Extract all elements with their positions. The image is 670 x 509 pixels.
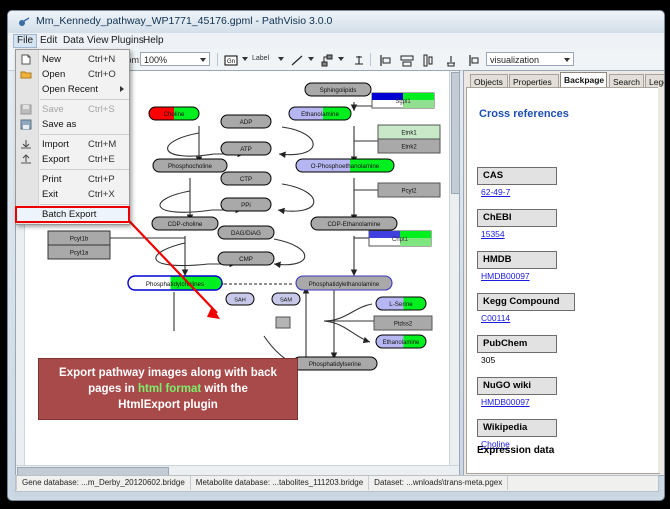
menu-divider-1 [40,99,129,100]
menu-item-export[interactable]: Export Ctrl+E [16,152,129,167]
menu-divider-2 [40,134,129,135]
node-phosphocholine: Phosphocholine [153,159,227,172]
xref-value-chebi[interactable]: 15354 [481,229,505,239]
node-sam: SAM [272,293,300,305]
node-pcyt2: Pcyt2 [378,183,440,197]
xref-label-wikipedia: Wikipedia [483,422,527,433]
svg-text:CDP-Ethanolamine: CDP-Ethanolamine [328,221,382,228]
menu-divider-4 [40,204,129,205]
annotation-line3: HtmlExport plugin [118,399,218,411]
menu-help[interactable]: Help [139,34,168,48]
svg-text:Phosphatidylcholines: Phosphatidylcholines [146,281,204,288]
align-middle-icon[interactable] [420,52,438,69]
interaction-dropdown-icon[interactable] [338,57,344,61]
menu-divider-3 [40,169,129,170]
svg-text:Chpt1: Chpt1 [392,237,409,243]
svg-text:L-Serine: L-Serine [389,301,413,308]
menu-edit[interactable]: Edit [36,34,61,48]
group-icon[interactable] [464,52,482,69]
node-cmp: CMP [218,252,274,265]
node-o-phosphoethanolamine: O-Phosphoethanolamine [296,159,394,172]
svg-text:Phosphocholine: Phosphocholine [168,163,213,170]
xref-section-kegg: Kegg Compound [477,293,575,311]
xref-label-pubchem: PubChem [483,338,527,349]
menu-item-batch-export-label: Batch Export [42,209,96,220]
svg-text:Ethanolamine: Ethanolamine [301,111,339,118]
menu-item-open-recent[interactable]: Open Recent [16,82,129,97]
node-pcyt1b: Pcyt1b [48,231,110,245]
svg-text:Ethanolamine: Ethanolamine [383,340,420,346]
xref-value-pubchem: 305 [481,355,495,365]
menu-item-save-accel: Ctrl+S [88,104,115,115]
submenu-arrow-icon [120,86,124,92]
tab-legend[interactable]: Legend [645,74,665,87]
tab-properties[interactable]: Properties [509,74,559,87]
status-bar: Gene database: ...m_Derby_20120602.bridg… [15,475,659,492]
svg-text:Pcyt1b: Pcyt1b [70,237,89,243]
menu-item-new[interactable]: New Ctrl+N [16,52,129,67]
xref-label-kegg: Kegg Compound [483,296,560,307]
side-panel: Objects Properties Backpage Search Legen… [463,70,665,476]
window-title: Mm_Kennedy_pathway_WP1771_45176.gpml - P… [36,15,332,27]
svg-text:Sphingolipids: Sphingolipids [320,87,357,94]
menu-item-open-recent-label: Open Recent [42,84,98,95]
import-icon [20,139,32,150]
svg-text:Phosphatidylethanolamine: Phosphatidylethanolamine [309,282,380,288]
title-bar: Mm_Kennedy_pathway_WP1771_45176.gpml - P… [8,11,664,33]
xref-section-wikipedia: Wikipedia [477,419,557,437]
node-adp: ADP [221,115,271,128]
menu-file[interactable]: File [13,34,37,48]
zoom-combobox[interactable]: 100% [140,52,210,66]
menu-item-export-accel: Ctrl+E [88,154,115,165]
tab-backpage[interactable]: Backpage [560,72,607,87]
xref-value-cas[interactable]: 62-49-7 [481,187,510,197]
status-dataset: Dataset: ...wnloads\trans-meta.pgex [369,476,508,490]
menu-item-exit-accel: Ctrl+X [88,189,115,200]
svg-text:ATP: ATP [240,146,252,153]
menu-item-export-label: Export [42,154,69,165]
menu-item-save: Save Ctrl+S [16,102,129,117]
node-ctp: CTP [221,172,271,185]
label-dropdown-icon[interactable] [278,57,284,61]
datanode-icon[interactable]: Gn [222,52,240,69]
svg-text:CTP: CTP [240,176,252,183]
side-panel-scrollbar[interactable] [658,87,665,473]
menu-item-new-label: New [42,54,61,65]
node-phosphatidylserine: Phosphatidylserine [293,357,377,370]
line-icon[interactable] [288,52,306,69]
menu-item-new-accel: Ctrl+N [88,54,115,65]
node-chpt1: Chpt1 [369,231,431,246]
svg-text:Sgpl1: Sgpl1 [395,99,411,105]
svg-text:Pcyt1a: Pcyt1a [70,251,89,257]
node-l-serine: L-Serine [376,297,426,310]
side-panel-tabs: Objects Properties Backpage Search Legen… [464,71,665,87]
menu-item-save-label: Save [42,104,64,115]
menu-item-import-label: Import [42,139,69,150]
annotation-highlight: html format [138,383,201,395]
svg-text:O-Phosphoethanolamine: O-Phosphoethanolamine [311,163,380,170]
node-ethanolamine-2: Ethanolamine [376,335,426,348]
node-sphingolipids: Sphingolipids [305,83,371,96]
svg-text:DAG/DiAG: DAG/DiAG [231,230,261,237]
interaction-icon[interactable] [318,52,336,69]
annotation-callout: Export pathway images along with back pa… [38,358,298,420]
toolbar-separator-2 [370,53,371,66]
pathvisio-icon [18,16,30,28]
status-metabolite-database: Metabolite database: ...tabolites_111203… [191,476,369,490]
svg-text:Phosphatidylserine: Phosphatidylserine [309,361,362,368]
new-file-icon [20,54,32,65]
menu-item-import-accel: Ctrl+M [88,139,116,150]
folder-icon [20,69,32,80]
screen: Mm_Kennedy_pathway_WP1771_45176.gpml - P… [0,0,670,509]
menu-item-print-accel: Ctrl+P [88,174,115,185]
node-etnk2: Etnk2 [378,139,440,153]
menu-item-exit[interactable]: Exit Ctrl+X [16,187,129,202]
svg-text:ADP: ADP [240,119,253,126]
save-icon [20,104,32,115]
xref-label-cas: CAS [483,170,503,181]
tab-objects[interactable]: Objects [470,74,508,87]
file-menu-popup[interactable]: New Ctrl+N Open Ctrl+O Open Recent Save … [15,49,130,225]
xref-section-pubchem: PubChem [477,335,557,353]
stack-icon[interactable] [442,52,460,69]
menu-item-open-accel: Ctrl+O [88,69,116,80]
canvas-vertical-thumb[interactable] [451,72,460,194]
menu-item-print[interactable]: Print Ctrl+P [16,172,129,187]
canvas-vertical-scrollbar[interactable] [449,71,459,475]
toolbar-separator-1 [217,53,218,66]
align-left-icon[interactable] [376,52,394,69]
xref-label-nugo: NuGO wiki [483,380,531,391]
xref-label-chebi: ChEBI [483,212,512,223]
menu-item-save-as[interactable]: Save as [16,117,129,132]
backpage-content: Cross references CAS 62-49-7 ChEBI 15354… [466,87,660,474]
xref-label-hmdb: HMDB [483,254,512,265]
annotation-line2-a: pages in [88,383,138,395]
node-sgpl1: Sgpl1 [372,93,434,108]
xref-section-chebi: ChEBI [477,209,557,227]
xref-section-nugo: NuGO wiki [477,377,557,395]
xref-section-hmdb: HMDB [477,251,557,269]
menu-item-save-as-label: Save as [42,119,76,130]
menu-item-open-label: Open [42,69,65,80]
node-sah: SAH [226,293,254,305]
xref-value-nugo[interactable]: HMDB00097 [481,397,530,407]
svg-text:Pcyt2: Pcyt2 [401,189,417,195]
datanode-dropdown-icon[interactable] [242,57,248,61]
label-tool-label[interactable]: Label [252,55,269,62]
svg-text:PPi: PPi [241,202,251,209]
anchor-icon[interactable] [350,52,368,69]
menu-item-batch-export[interactable]: Batch Export [16,207,129,222]
xref-section-cas: CAS [477,167,557,185]
expression-data-heading: Expression data [477,445,554,456]
svg-text:SAH: SAH [234,298,246,304]
node-choline-top: Choline [149,107,199,120]
annotation-text: Export pathway images along with back pa… [53,365,283,413]
canvas-horizontal-scrollbar[interactable] [16,465,459,475]
node-ptdss2: Ptdss2 [374,316,432,330]
export-icon [20,154,32,165]
visualization-combobox[interactable]: visualization [486,52,574,66]
line-dropdown-icon[interactable] [308,57,314,61]
svg-text:Choline: Choline [164,111,186,118]
tab-search[interactable]: Search [609,74,644,87]
node-atp: ATP [221,142,271,155]
status-gene-database: Gene database: ...m_Derby_20120602.bridg… [16,476,191,490]
annotation-line2-b: with the [201,383,248,395]
xref-value-hmdb[interactable]: HMDB00097 [481,271,530,281]
menu-item-import[interactable]: Import Ctrl+M [16,137,129,152]
node-cdp-choline: CDP-choline [152,217,218,230]
node-phosphatidylethanolamine: Phosphatidylethanolamine [296,276,392,290]
svg-text:Ptdss2: Ptdss2 [394,322,413,328]
node-cdp-ethanolamine: CDP-Ethanolamine [311,217,397,230]
svg-text:SAM: SAM [280,298,292,304]
svg-text:CMP: CMP [239,256,253,263]
application-window: Mm_Kennedy_pathway_WP1771_45176.gpml - P… [7,10,665,501]
node-phosphatidylcholines: Phosphatidylcholines [128,276,222,290]
menu-item-open[interactable]: Open Ctrl+O [16,67,129,82]
node-ppi: PPi [221,198,271,211]
node-ethanolamine: Ethanolamine [289,107,351,120]
node-etnk1: Etnk1 [378,125,440,139]
node-dag-diag: DAG/DiAG [218,226,274,239]
menu-item-exit-label: Exit [42,189,58,200]
svg-text:Etnk1: Etnk1 [401,131,417,137]
annotation-line1: Export pathway images along with back [59,367,277,379]
node-pcyt1a: Pcyt1a [48,245,110,259]
menu-bar: File Edit Data View Plugins Help [8,33,664,50]
svg-text:Etnk2: Etnk2 [401,145,417,151]
align-center-icon[interactable] [398,52,416,69]
svg-text:Gn: Gn [227,59,235,65]
xref-value-kegg[interactable]: C00114 [481,313,510,323]
svg-text:CDP-choline: CDP-choline [168,221,203,228]
menu-item-print-label: Print [42,174,62,185]
cross-references-heading: Cross references [479,108,569,120]
save-as-icon [20,119,32,130]
